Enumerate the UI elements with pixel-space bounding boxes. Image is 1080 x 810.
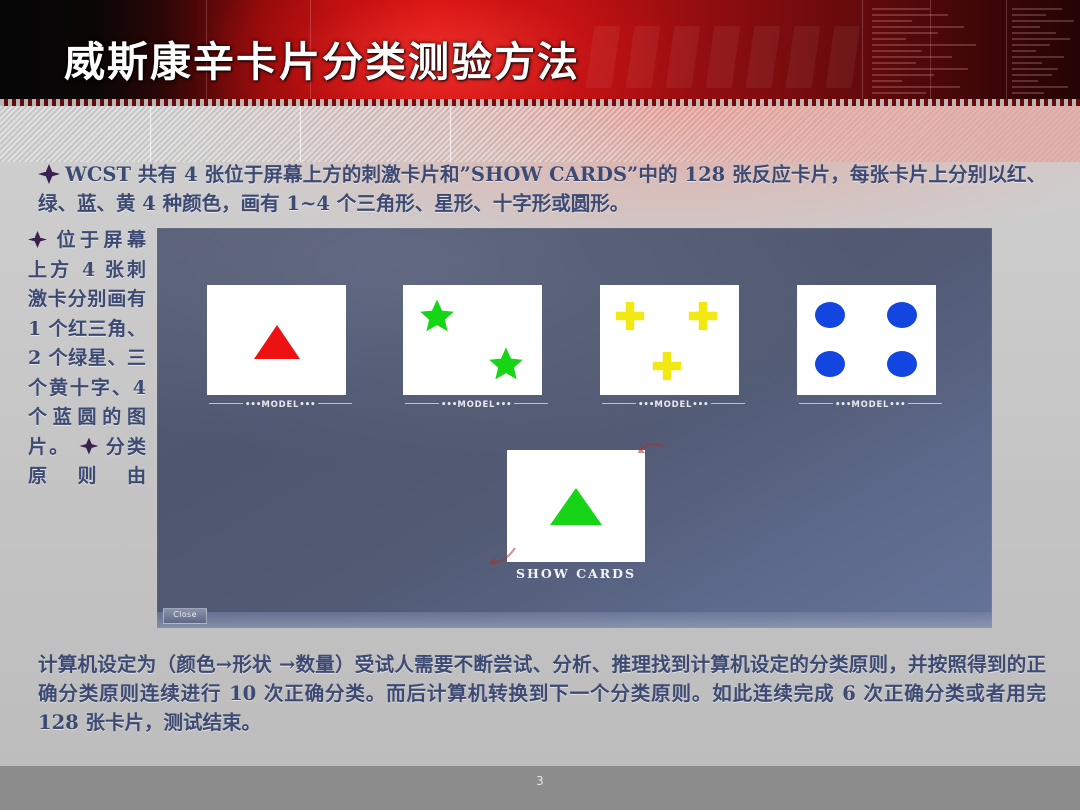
blue-circle-icon (815, 351, 845, 377)
model-text: MODEL (851, 400, 889, 410)
star-bullet-icon (28, 231, 47, 248)
hatch-texture-band (0, 106, 1080, 162)
green-triangle-icon (550, 488, 602, 525)
star-bullet-icon (38, 164, 60, 184)
intro-paragraph-text: WCST 共有 4 张位于屏幕上方的刺激卡片和”SHOW CARDS”中的 12… (38, 163, 1046, 215)
stimulus-card-1[interactable] (207, 285, 346, 395)
green-star-icon (487, 345, 525, 383)
page-number: 3 (0, 774, 1080, 788)
stimulus-card-4[interactable] (797, 285, 936, 395)
model-text: MODEL (457, 400, 495, 410)
blue-circle-icon (887, 302, 917, 328)
banner-texture-lines (872, 8, 1017, 100)
stimulus-card-4-label: •••MODEL••• (797, 400, 936, 410)
banner-chevron (746, 26, 781, 88)
slide: 威斯康辛卡片分类测验方法 WCST 共有 4 张位于屏幕上方的刺激卡片和”SHO… (0, 0, 1080, 810)
intro-paragraph: WCST 共有 4 张位于屏幕上方的刺激卡片和”SHOW CARDS”中的 12… (38, 160, 1046, 218)
page-title: 威斯康辛卡片分类测验方法 (64, 40, 580, 85)
response-card-label: SHOW CARDS (507, 566, 645, 581)
wcst-screenshot-panel: •••MODEL••• •••MODEL••• (157, 228, 992, 628)
model-text: MODEL (261, 400, 299, 410)
banner-chevron (826, 26, 861, 88)
banner-chevron (706, 26, 741, 88)
close-button[interactable]: Close (163, 608, 207, 624)
banner-chevron (786, 26, 821, 88)
stimulus-card-3[interactable] (600, 285, 739, 395)
yellow-cross-icon (613, 299, 647, 333)
stimulus-card-1-label: •••MODEL••• (207, 400, 346, 410)
hatch-divider (150, 106, 151, 162)
conclusion-paragraph: 计算机设定为（颜色→形状 →数量）受试人需要不断尝试、分析、推理找到计算机设定的… (38, 650, 1046, 737)
response-card[interactable] (507, 450, 645, 562)
side-column-paragraph: 位于屏幕上方 4 张刺激卡分别画有 1 个红三角、2 个绿星、三个黄十字、4 个… (28, 226, 146, 492)
blue-circle-icon (815, 302, 845, 328)
model-text: MODEL (654, 400, 692, 410)
banner-vline (862, 0, 863, 106)
slide-footer (0, 766, 1080, 810)
red-arrow-icon (637, 440, 667, 462)
stimulus-card-3-label: •••MODEL••• (600, 400, 739, 410)
red-arrow-icon (487, 544, 517, 568)
title-banner: 威斯康辛卡片分类测验方法 (0, 0, 1080, 106)
yellow-cross-icon (650, 349, 684, 383)
yellow-cross-icon (686, 299, 720, 333)
side-column-text: 位于屏幕上方 4 张刺激卡分别画有 1 个红三角、2 个绿星、三个黄十字、4 个… (28, 229, 146, 458)
stimulus-card-2[interactable] (403, 285, 542, 395)
red-triangle-icon (254, 325, 300, 359)
green-star-icon (418, 297, 456, 335)
stimulus-card-2-label: •••MODEL••• (403, 400, 542, 410)
banner-dot-rule (0, 99, 1080, 106)
panel-bottom-strip (157, 612, 992, 628)
banner-texture-lines (1012, 8, 1080, 100)
hatch-divider (450, 106, 451, 162)
blue-circle-icon (887, 351, 917, 377)
hatch-divider (300, 106, 301, 162)
star-bullet-icon (79, 438, 98, 455)
